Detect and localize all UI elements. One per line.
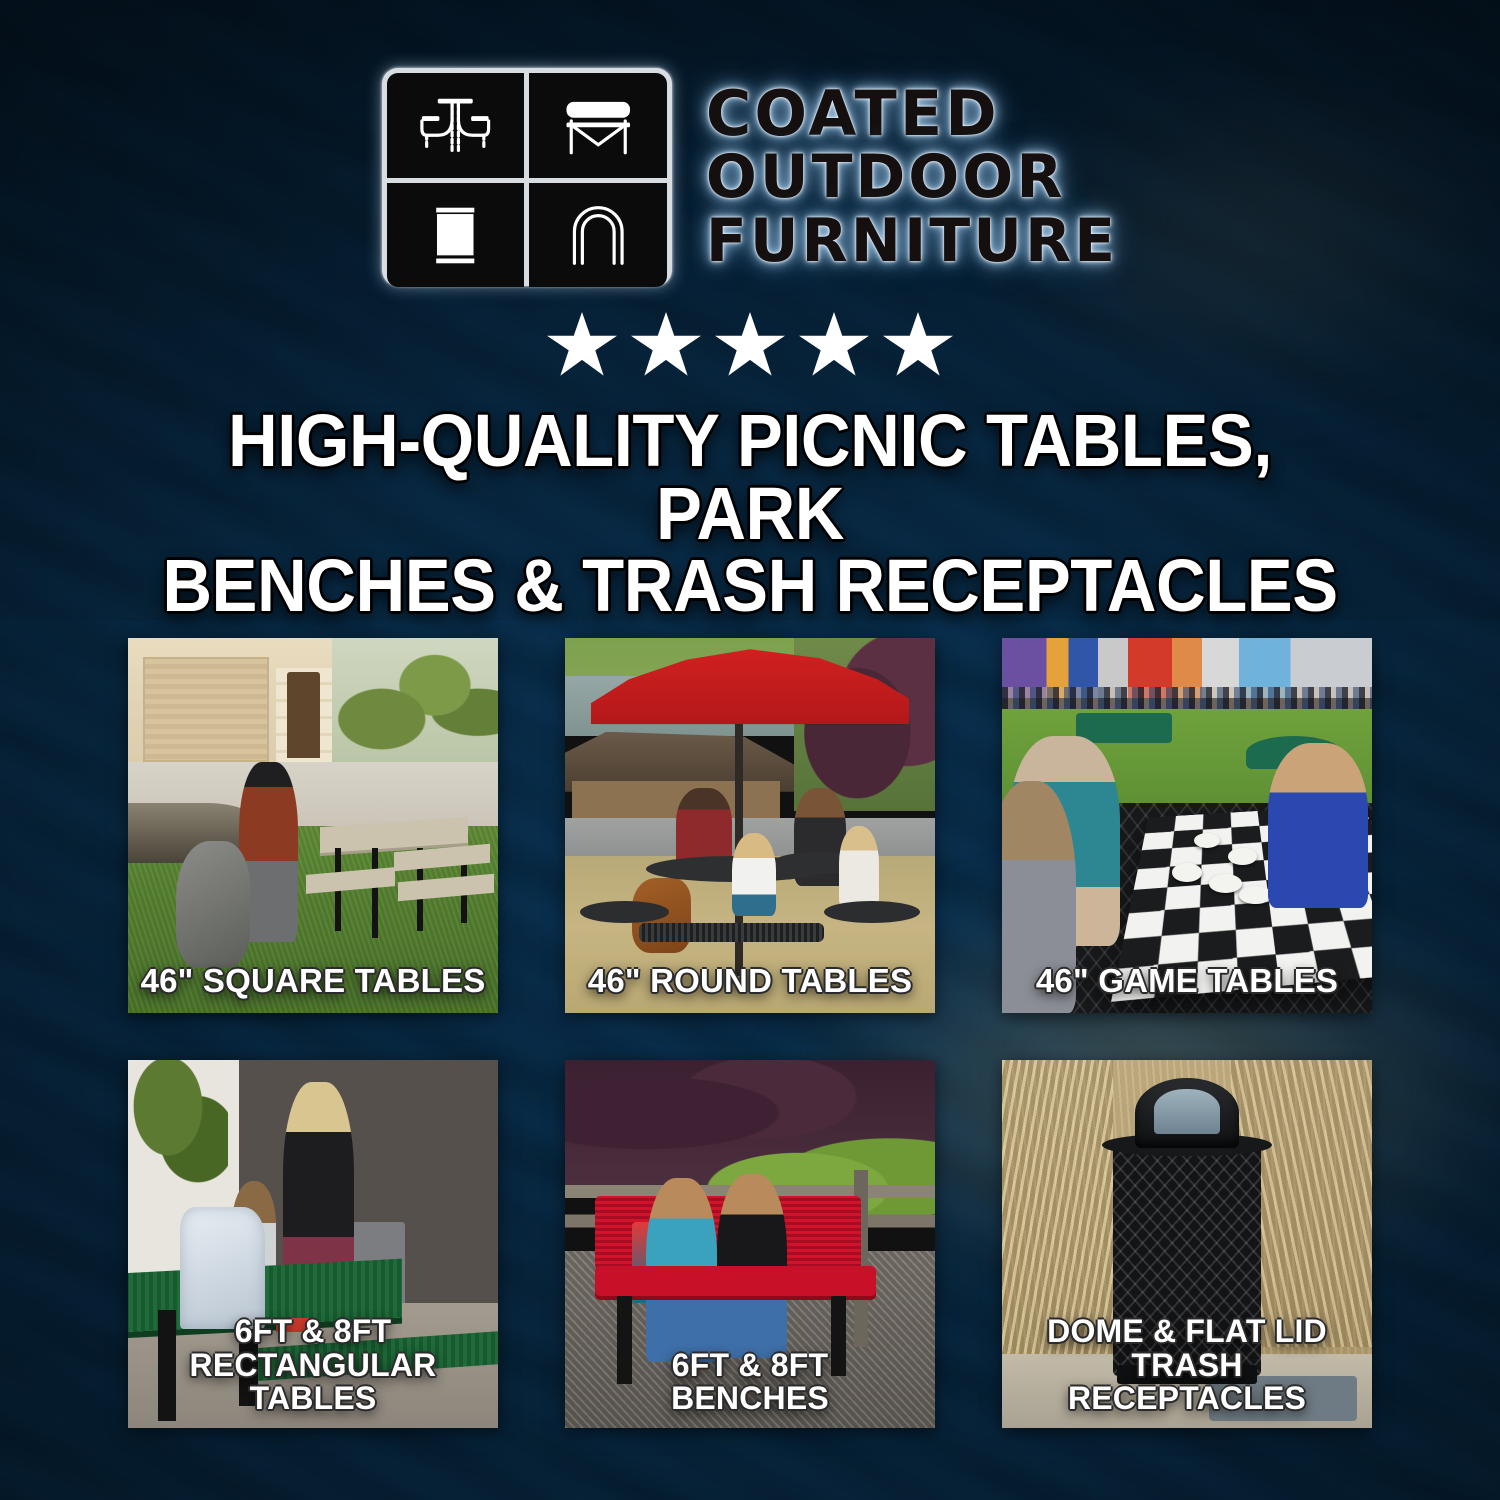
caption-line-1: 46" GAME TABLES <box>1010 964 1364 997</box>
picnic-table-icon <box>387 73 525 178</box>
bench-icon <box>529 73 667 178</box>
product-grid: 46" SQUARE TABLES <box>128 638 1372 1428</box>
company-logo[interactable] <box>382 68 672 286</box>
brand-lockup[interactable]: COATED OUTDOOR FURNITURE <box>382 68 1118 286</box>
caption-line-1: 46" SQUARE TABLES <box>136 964 490 997</box>
star-icon <box>631 312 701 379</box>
star-icon <box>799 312 869 379</box>
caption-line-2: BENCHES <box>573 1382 927 1416</box>
caption-line-1: DOME & FLAT LID <box>1010 1315 1364 1349</box>
product-caption: 46" SQUARE TABLES <box>128 964 498 1013</box>
star-icon <box>715 312 785 379</box>
headline-line-1: HIGH-QUALITY PICNIC TABLES, PARK <box>228 399 1272 555</box>
star-icon <box>547 312 617 379</box>
product-photo-round-tables <box>565 638 935 1013</box>
caption-line-1: 6FT & 8FT <box>573 1349 927 1383</box>
star-icon <box>883 312 953 379</box>
caption-line-2: RECTANGULAR TABLES <box>136 1349 490 1416</box>
trash-receptacle-icon <box>387 183 525 288</box>
star-rating <box>547 312 953 379</box>
product-caption: 46" GAME TABLES <box>1002 964 1372 1013</box>
product-tile-game-tables[interactable]: 46" GAME TABLES <box>1002 638 1372 1013</box>
product-tile-trash-receptacles[interactable]: DOME & FLAT LID TRASH RECEPTACLES <box>1002 1060 1372 1428</box>
caption-line-2: TRASH RECEPTACLES <box>1010 1349 1364 1416</box>
product-tile-round-tables[interactable]: 46" ROUND TABLES <box>565 638 935 1013</box>
headline-line-2: BENCHES & TRASH RECEPTACLES <box>127 550 1373 623</box>
header: COATED OUTDOOR FURNITURE HIGH-QUALITY PI… <box>0 0 1500 623</box>
brand-wordmark: COATED OUTDOOR FURNITURE <box>706 82 1118 272</box>
product-caption: 46" ROUND TABLES <box>565 964 935 1013</box>
product-photo-game-tables <box>1002 638 1372 1013</box>
poster-root: COATED OUTDOOR FURNITURE HIGH-QUALITY PI… <box>0 0 1500 1500</box>
product-caption: 6FT & 8FT BENCHES <box>565 1349 935 1428</box>
product-caption: 6FT & 8FT RECTANGULAR TABLES <box>128 1315 498 1428</box>
brand-line-outdoor: OUTDOOR <box>706 147 1118 208</box>
product-caption: DOME & FLAT LID TRASH RECEPTACLES <box>1002 1315 1372 1428</box>
product-tile-rectangular-tables[interactable]: 6FT & 8FT RECTANGULAR TABLES <box>128 1060 498 1428</box>
brand-line-furniture: FURNITURE <box>706 211 1118 272</box>
caption-line-1: 6FT & 8FT <box>136 1315 490 1349</box>
product-tile-square-tables[interactable]: 46" SQUARE TABLES <box>128 638 498 1013</box>
product-tile-benches[interactable]: 6FT & 8FT BENCHES <box>565 1060 935 1428</box>
caption-line-1: 46" ROUND TABLES <box>573 964 927 997</box>
page-title: HIGH-QUALITY PICNIC TABLES, PARK BENCHES… <box>127 405 1373 623</box>
brand-line-coated: COATED <box>706 82 1118 145</box>
bike-rack-icon <box>529 183 667 288</box>
product-photo-square-tables <box>128 638 498 1013</box>
